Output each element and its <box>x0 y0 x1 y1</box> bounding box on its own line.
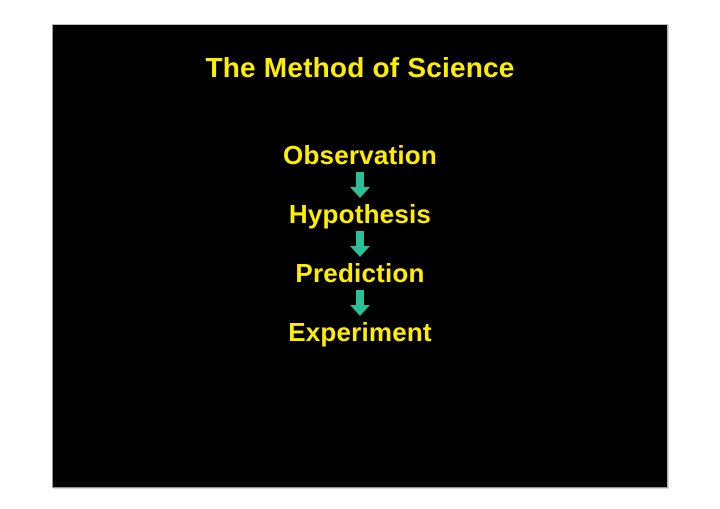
arrow-down-icon <box>349 172 371 198</box>
arrow-down-icon <box>349 231 371 257</box>
flow-step-experiment: Experiment <box>288 318 432 346</box>
flow-step-observation: Observation <box>283 141 437 169</box>
page-canvas: The Method of Science Observation Hypoth… <box>0 0 720 509</box>
slide-title: The Method of Science <box>53 53 667 84</box>
arrow-down-icon <box>349 290 371 316</box>
flow-step-prediction: Prediction <box>295 259 424 287</box>
method-flow-diagram: Observation Hypothesis Prediction Experi… <box>53 141 667 346</box>
slide-canvas: The Method of Science Observation Hypoth… <box>52 24 668 488</box>
flow-step-hypothesis: Hypothesis <box>289 200 431 228</box>
